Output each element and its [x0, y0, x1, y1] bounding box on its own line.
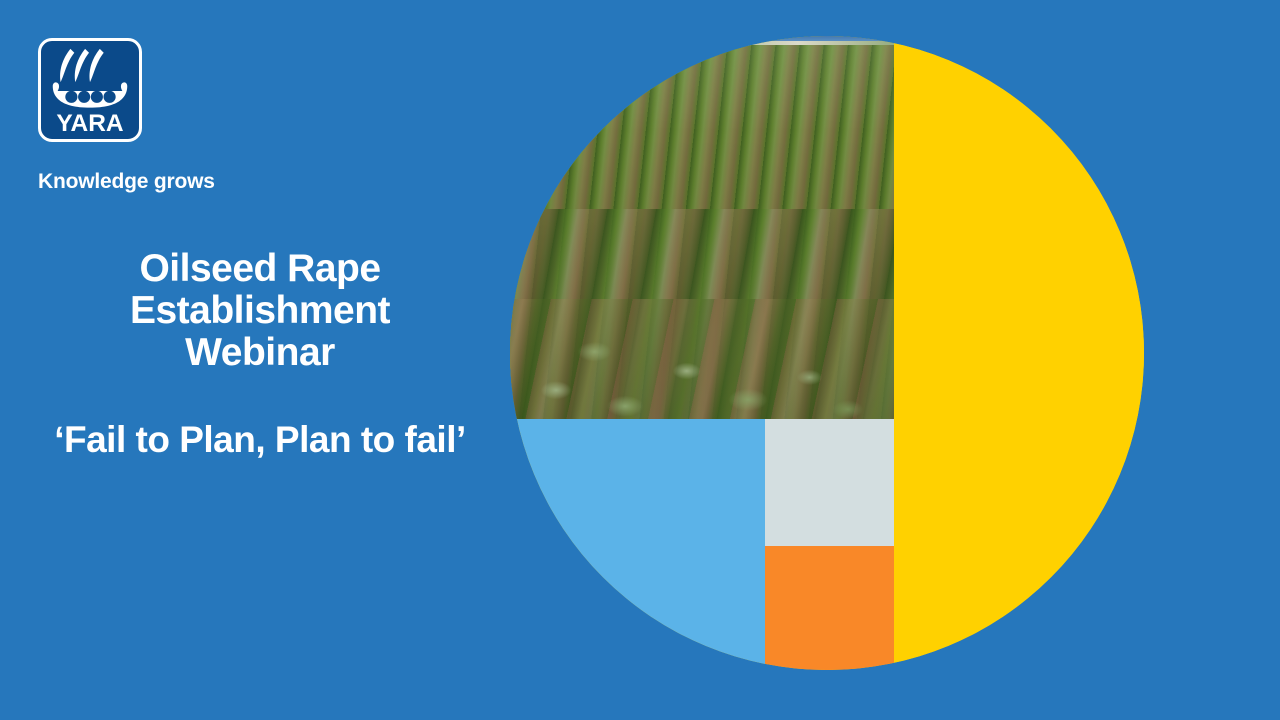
logo-tile: YARA — [38, 38, 142, 142]
oilseed-rape-field-photo — [510, 36, 894, 419]
slide-canvas: YARA Knowledge grows Oilseed Rape Establ… — [0, 0, 1280, 720]
orange-block — [765, 546, 894, 670]
yellow-half — [894, 36, 1144, 670]
brand-tagline: Knowledge grows — [38, 170, 215, 194]
silver-block — [765, 419, 894, 546]
page-subtitle: ‘Fail to Plan, Plan to fail’ — [20, 420, 500, 461]
yara-ship-icon: YARA — [41, 41, 139, 139]
title-block: Oilseed Rape Establishment Webinar ‘Fail… — [20, 248, 500, 461]
page-title: Oilseed Rape Establishment Webinar — [20, 248, 500, 374]
circular-composition — [510, 36, 1144, 670]
photo-vignette — [510, 36, 894, 419]
circle-left-half — [510, 36, 894, 670]
yara-logo: YARA — [38, 38, 142, 142]
light-blue-block — [510, 419, 766, 670]
logo-wordmark: YARA — [56, 110, 123, 137]
